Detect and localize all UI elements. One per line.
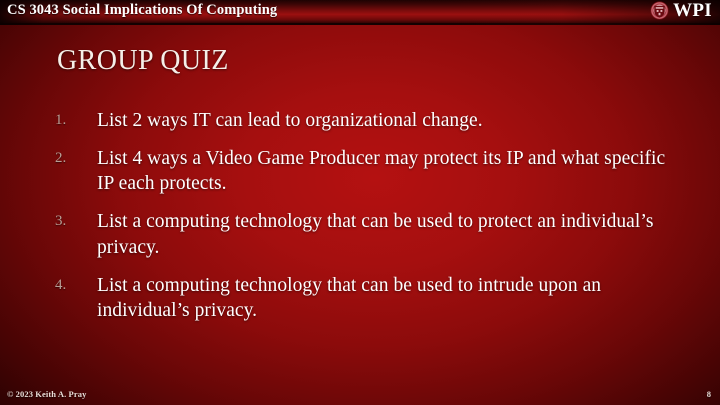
wpi-logo: WPI	[650, 1, 712, 20]
list-item: 2. List 4 ways a Video Game Producer may…	[55, 146, 685, 197]
list-item: 1. List 2 ways IT can lead to organizati…	[55, 108, 685, 134]
list-item-text: List 2 ways IT can lead to organizationa…	[97, 108, 685, 134]
list-item-text: List 4 ways a Video Game Producer may pr…	[97, 146, 685, 197]
list-item-number: 3.	[55, 209, 97, 232]
list-item: 4. List a computing technology that can …	[55, 273, 685, 324]
course-title: CS 3043 Social Implications Of Computing	[7, 2, 277, 19]
list-item-number: 4.	[55, 273, 97, 296]
wpi-seal-icon	[650, 1, 669, 20]
quiz-question-list: 1. List 2 ways IT can lead to organizati…	[55, 108, 685, 336]
list-item-text: List a computing technology that can be …	[97, 273, 685, 324]
wpi-logo-text: WPI	[673, 1, 712, 20]
slide-title: GROUP QUIZ	[57, 45, 229, 77]
list-item-number: 2.	[55, 146, 97, 169]
list-item-number: 1.	[55, 108, 97, 131]
list-item-text: List a computing technology that can be …	[97, 209, 685, 260]
slide-page-number: 8	[707, 389, 711, 399]
footer-copyright: © 2023 Keith A. Pray	[7, 389, 86, 399]
presentation-slide: CS 3043 Social Implications Of Computing…	[0, 0, 720, 405]
list-item: 3. List a computing technology that can …	[55, 209, 685, 260]
